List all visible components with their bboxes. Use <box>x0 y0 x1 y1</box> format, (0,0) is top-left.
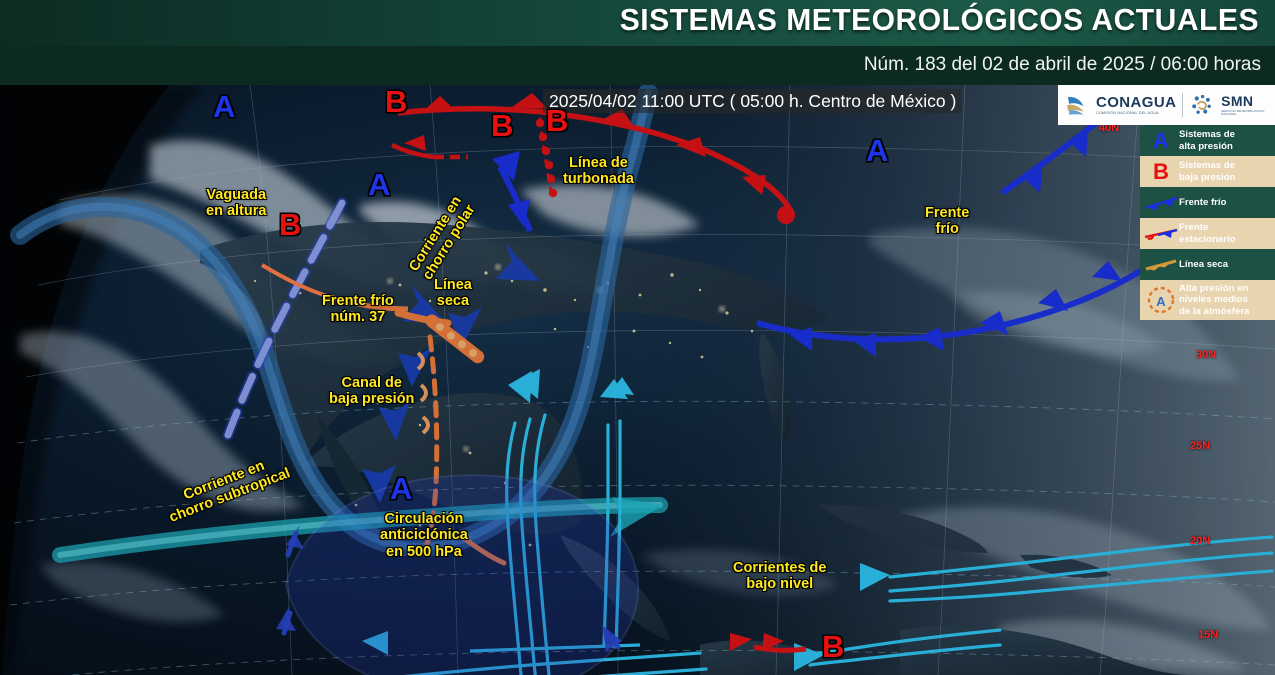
map-legend: ASistemas de alta presiónBSistemas de ba… <box>1140 125 1275 320</box>
legend-row: Línea seca <box>1140 249 1275 280</box>
stationary-front-icon <box>1144 226 1178 242</box>
legend-row: BSistemas de baja presión <box>1140 156 1275 187</box>
latitude-label: 25N <box>1190 440 1210 452</box>
map-graphics-layer <box>0 85 1275 675</box>
low-pressure-symbol: B <box>279 209 301 240</box>
low-pressure-symbol: B <box>491 110 513 141</box>
bulletin-subtitle: Núm. 183 del 02 de abril de 2025 / 06:00… <box>864 54 1261 76</box>
cold-front-icon <box>1144 195 1178 211</box>
dry-line-icon-wrap <box>1143 257 1179 273</box>
conagua-logo-icon <box>1064 92 1090 118</box>
smn-subtitle: SERVICIO METEOROLÓGICO NACIONAL <box>1221 110 1269 116</box>
low-pressure-symbol: B <box>822 631 844 662</box>
legend-label: Sistemas de alta presión <box>1179 129 1235 151</box>
low-pressure-B-icon: B <box>1153 161 1169 183</box>
legend-label: Alta presión en niveles medios de la atm… <box>1179 283 1249 316</box>
legend-label: Frente estacionario <box>1179 222 1236 244</box>
cold-front-icon-wrap <box>1143 195 1179 211</box>
legend-label: Sistemas de baja presión <box>1179 160 1236 182</box>
mid-level-high-icon-wrap: A <box>1143 285 1179 315</box>
conagua-name: CONAGUA <box>1096 95 1176 110</box>
page-title: SISTEMAS METEOROLÓGICOS ACTUALES <box>620 2 1259 38</box>
high-pressure-symbol: A <box>213 91 235 122</box>
weather-map-screenshot: SISTEMAS METEOROLÓGICOS ACTUALES Núm. 18… <box>0 0 1275 675</box>
high-pressure-A-icon-wrap: A <box>1143 130 1179 152</box>
smn-name: SMN <box>1221 94 1269 108</box>
dry-line-icon <box>1144 257 1178 273</box>
latitude-label: 15N <box>1198 629 1218 641</box>
high-pressure-symbol: A <box>368 169 390 200</box>
legend-label: Frente frío <box>1179 197 1226 208</box>
conagua-subtitle: COMISIÓN NACIONAL DEL AGUA <box>1096 112 1176 116</box>
logo-divider <box>1182 93 1183 117</box>
legend-row: Frente estacionario <box>1140 218 1275 249</box>
satellite-timestamp: 2025/04/02 11:00 UTC ( 05:00 h. Centro d… <box>543 89 962 113</box>
legend-row: Frente frío <box>1140 187 1275 218</box>
high-pressure-symbol: A <box>866 135 888 166</box>
legend-row: AAlta presión en niveles medios de la at… <box>1140 280 1275 320</box>
legend-row: ASistemas de alta presión <box>1140 125 1275 156</box>
stationary-front-icon-wrap <box>1143 226 1179 242</box>
latitude-label: 30N <box>1196 349 1216 361</box>
smn-logo-icon <box>1189 92 1215 118</box>
high-pressure-symbol: A <box>390 473 412 504</box>
low-pressure-B-icon-wrap: B <box>1143 161 1179 183</box>
mid-level-high-icon: A <box>1145 285 1177 315</box>
low-pressure-symbol: B <box>385 86 407 117</box>
latitude-label: 20N <box>1190 535 1210 547</box>
satellite-map[interactable] <box>0 85 1275 675</box>
svg-text:A: A <box>1156 294 1166 309</box>
high-pressure-A-icon: A <box>1153 130 1169 152</box>
legend-label: Línea seca <box>1179 259 1228 270</box>
low-pressure-symbol: B <box>546 105 568 136</box>
agency-logo-bar: CONAGUA COMISIÓN NACIONAL DEL AGUA SMN S… <box>1058 85 1275 125</box>
